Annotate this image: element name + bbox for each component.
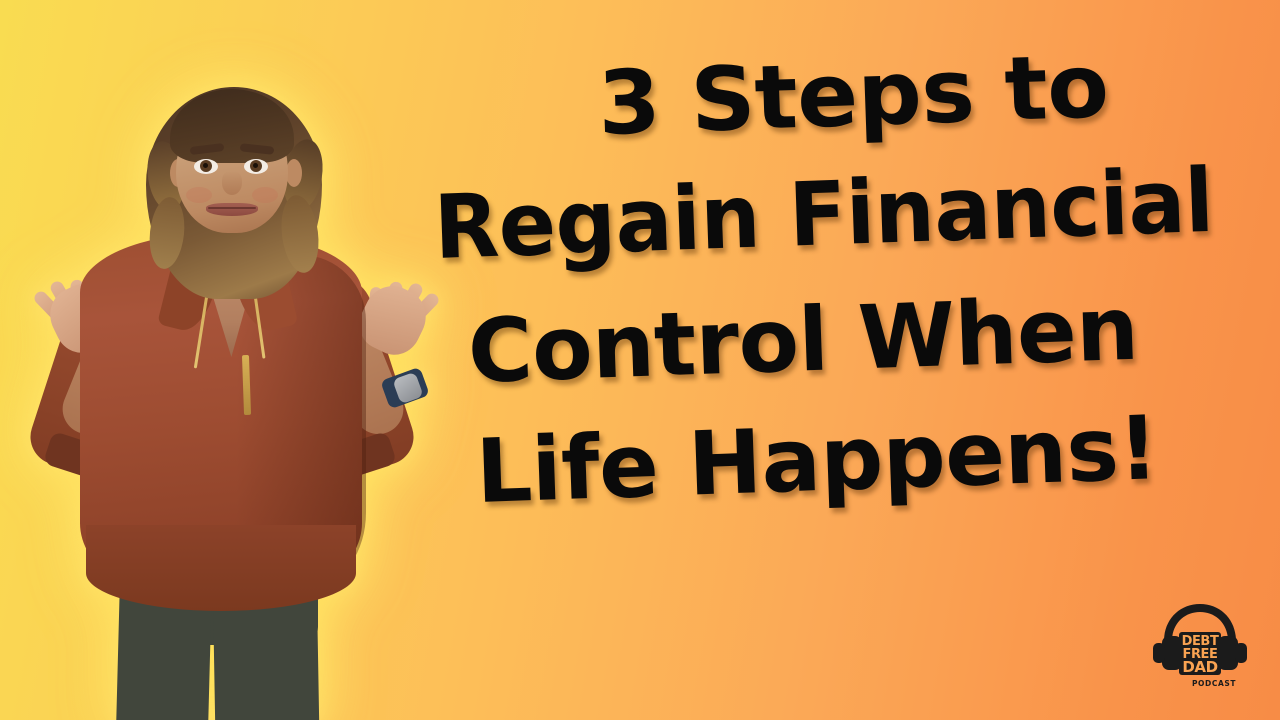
pupil-left — [203, 163, 208, 168]
logo-line-dad: DAD — [1182, 658, 1217, 676]
headphones-icon: DEBT FREE DAD PODCAST — [1146, 596, 1254, 692]
presenter-photo — [0, 55, 470, 720]
blouse-hem — [86, 525, 356, 611]
thumbnail-canvas: 3 Steps to Regain Financial Control When… — [0, 0, 1280, 720]
thumbnail-title: 3 Steps to Regain Financial Control When… — [420, 28, 1280, 538]
logo-tagline: PODCAST — [1192, 679, 1236, 688]
title-line-4: Life Happens! — [474, 396, 1159, 523]
title-line-3: Control When — [466, 277, 1140, 403]
nose — [222, 171, 242, 195]
ear-right — [286, 159, 302, 187]
lip-line — [208, 207, 256, 209]
title-line-1: 3 Steps to — [596, 34, 1110, 155]
cheek-left — [186, 187, 212, 203]
debt-free-dad-logo: DEBT FREE DAD PODCAST — [1146, 596, 1254, 692]
mouth — [206, 203, 258, 216]
pupil-right — [253, 163, 258, 168]
cheek-right — [252, 187, 278, 203]
presenter-figure — [0, 55, 470, 720]
title-line-2: Regain Financial — [432, 149, 1215, 279]
